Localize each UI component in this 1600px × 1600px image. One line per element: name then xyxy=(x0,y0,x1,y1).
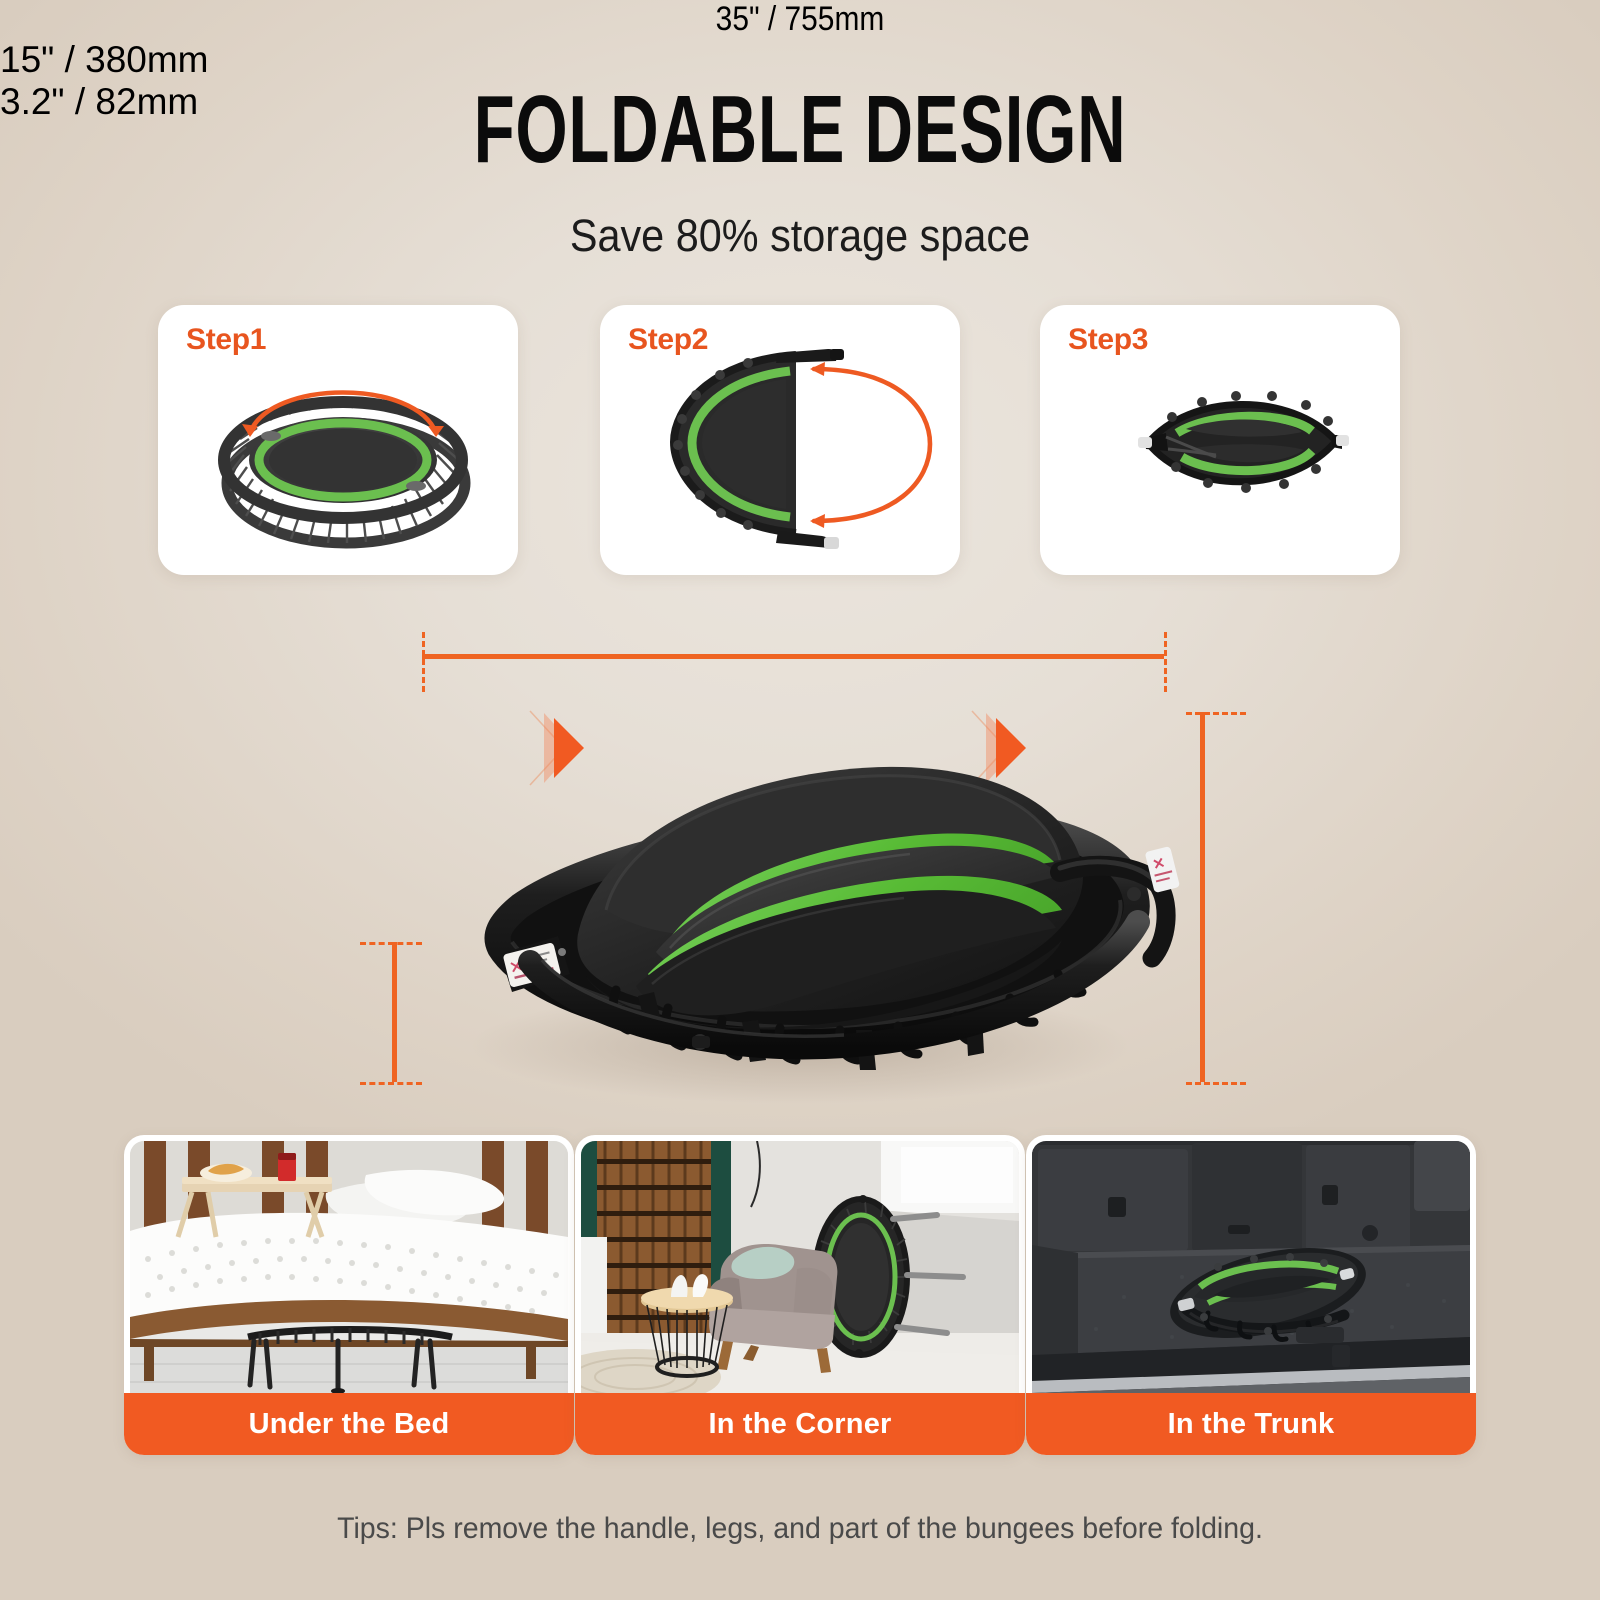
infographic-page: FOLDABLE DESIGN Save 80% storage space S… xyxy=(0,0,1600,1600)
steps-row: Step1 xyxy=(0,305,1600,580)
dimension-height-label: 15" / 380mm xyxy=(0,39,1600,81)
photo-under-the-bed xyxy=(130,1141,568,1396)
step-card-1: Step1 xyxy=(158,305,518,575)
page-subtitle: Save 80% storage space xyxy=(64,210,1536,262)
step-card-2: Step2 xyxy=(600,305,960,575)
dimension-width-label: 35" / 755mm xyxy=(96,0,1504,39)
dimension-width-tick-left xyxy=(422,632,425,692)
photo-card-in-the-corner[interactable]: In the Corner xyxy=(575,1135,1025,1455)
dimension-width-line xyxy=(422,654,1164,659)
page-title: FOLDABLE DESIGN xyxy=(240,82,1360,178)
photo-caption-in-the-trunk: In the Trunk xyxy=(1026,1393,1476,1455)
hero-product-image xyxy=(370,690,1230,1110)
photo-card-in-the-trunk[interactable]: In the Trunk xyxy=(1026,1135,1476,1455)
tips-text: Tips: Pls remove the handle, legs, and p… xyxy=(40,1512,1560,1546)
photo-caption-under-the-bed: Under the Bed xyxy=(124,1393,574,1455)
photo-card-under-the-bed[interactable]: Under the Bed xyxy=(124,1135,574,1455)
trampoline-folded-icon xyxy=(1040,305,1400,575)
photo-in-the-trunk xyxy=(1032,1141,1470,1396)
dimension-width-tick-right xyxy=(1164,632,1167,692)
photo-caption-in-the-corner: In the Corner xyxy=(575,1393,1025,1455)
roll-circular-arrow xyxy=(810,362,930,528)
step-card-3: Step3 xyxy=(1040,305,1400,575)
trampoline-open-icon xyxy=(158,305,518,575)
photo-in-the-corner xyxy=(581,1141,1019,1396)
trampoline-halffolded-icon xyxy=(600,305,960,575)
usage-photo-cards: Under the Bed xyxy=(0,1135,1600,1470)
